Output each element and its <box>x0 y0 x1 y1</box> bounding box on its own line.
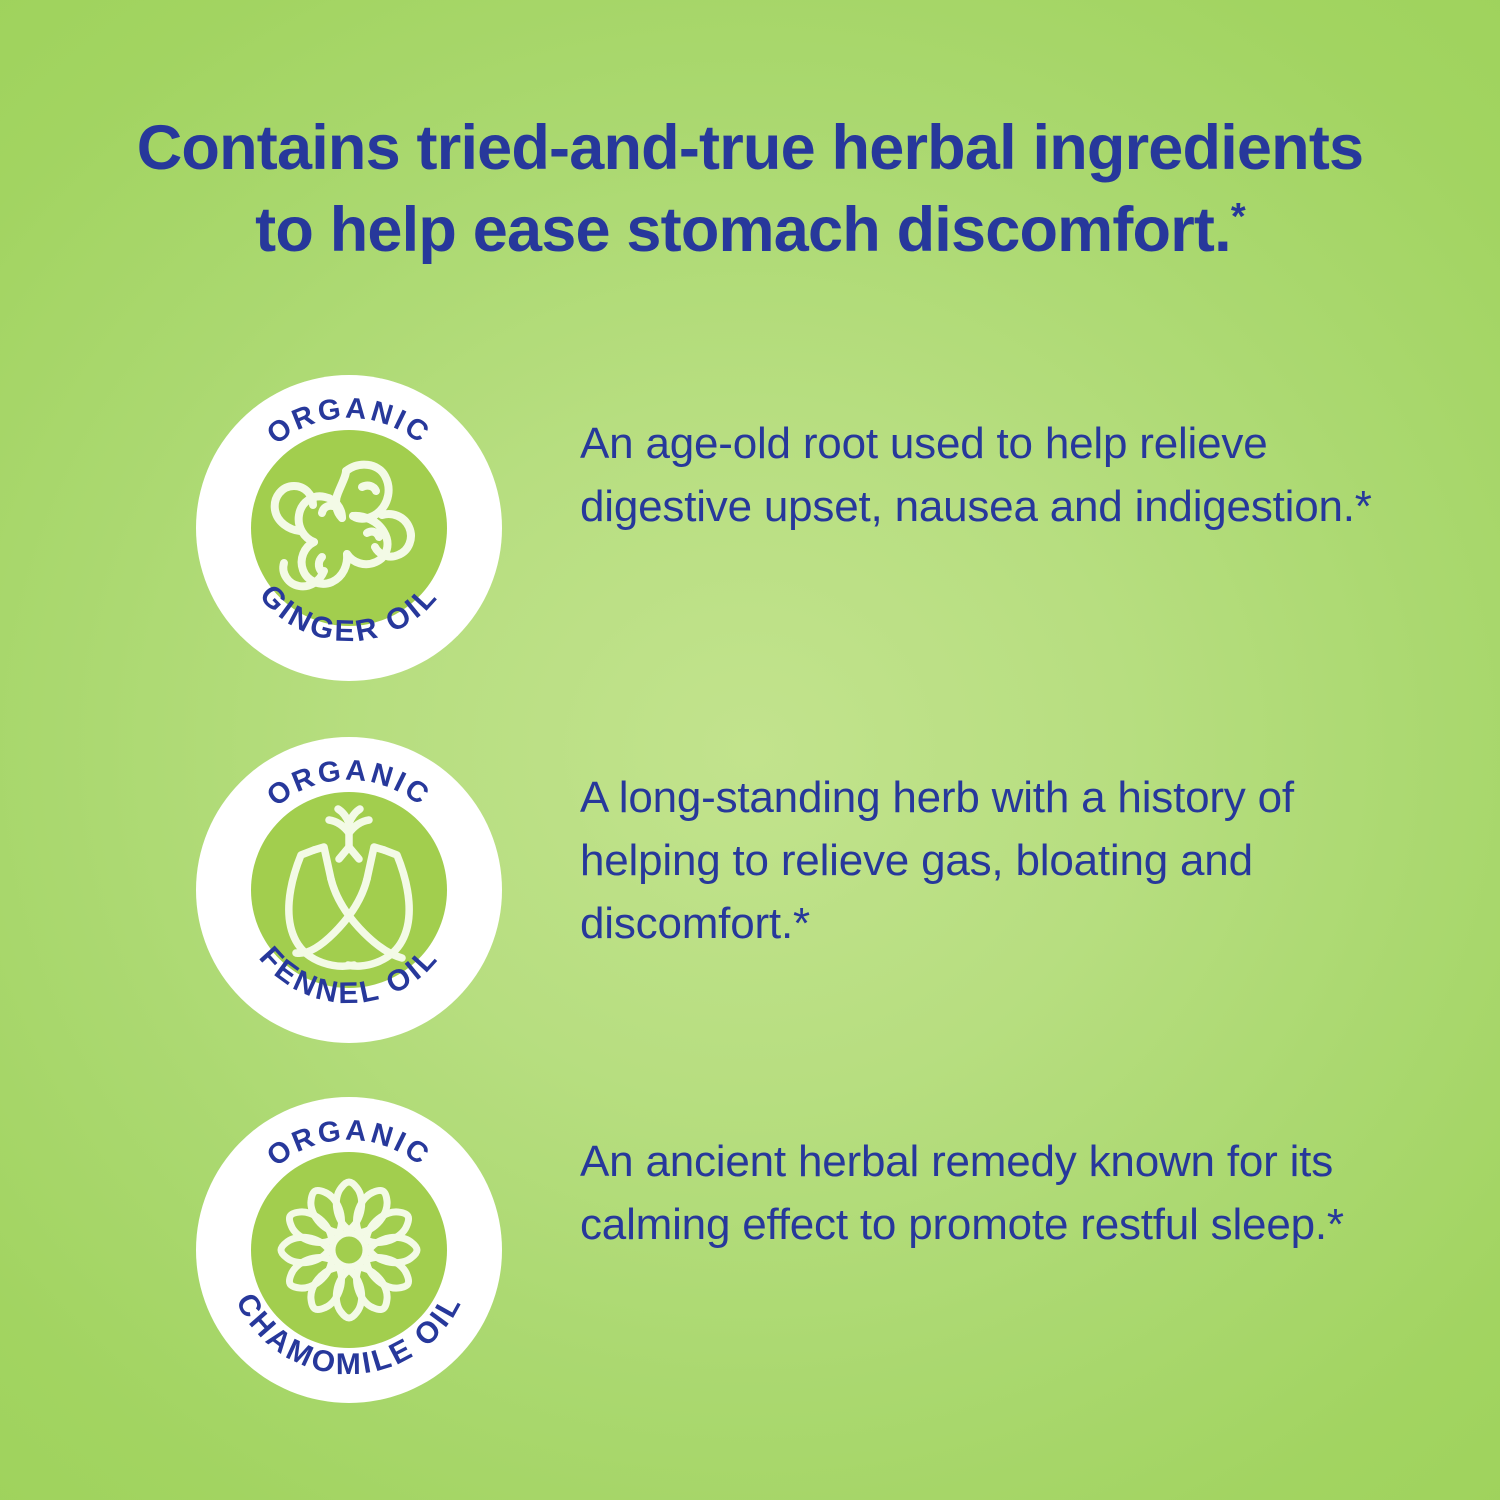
ingredient-description-ginger: An age-old root used to help relieve dig… <box>580 413 1410 539</box>
ingredient-description-chamomile: An ancient herbal remedy known for its c… <box>580 1131 1410 1257</box>
ingredient-description-fennel: A long-standing herb with a history of h… <box>580 767 1410 956</box>
badge-chamomile-oil-graphic: ORGANIC CHAMOMILE OIL <box>196 1097 502 1403</box>
badge-fennel-oil-graphic: ORGANIC FENNEL OIL <box>196 737 502 1043</box>
badge-chamomile-oil: ORGANIC CHAMOMILE OIL <box>196 1097 502 1403</box>
page-title: Contains tried-and-true herbal ingredien… <box>0 108 1500 272</box>
ingredient-row-chamomile: ORGANIC CHAMOMILE OIL An ancient herbal … <box>0 1097 1500 1407</box>
ingredient-row-ginger: ORGANIC GINGER OIL <box>0 375 1500 685</box>
badge-ginger-oil: ORGANIC GINGER OIL <box>196 375 502 681</box>
headline-line-2: to help ease stomach discomfort. <box>255 195 1231 265</box>
headline-line-1: Contains tried-and-true herbal ingredien… <box>137 113 1364 183</box>
ingredient-row-fennel: ORGANIC FENNEL OIL <box>0 737 1500 1047</box>
footnote-asterisk: * <box>1231 196 1245 238</box>
ingredient-benefits-panel: Contains tried-and-true herbal ingredien… <box>0 0 1500 1500</box>
badge-fennel-oil: ORGANIC FENNEL OIL <box>196 737 502 1043</box>
badge-ginger-oil-graphic: ORGANIC GINGER OIL <box>196 375 502 681</box>
